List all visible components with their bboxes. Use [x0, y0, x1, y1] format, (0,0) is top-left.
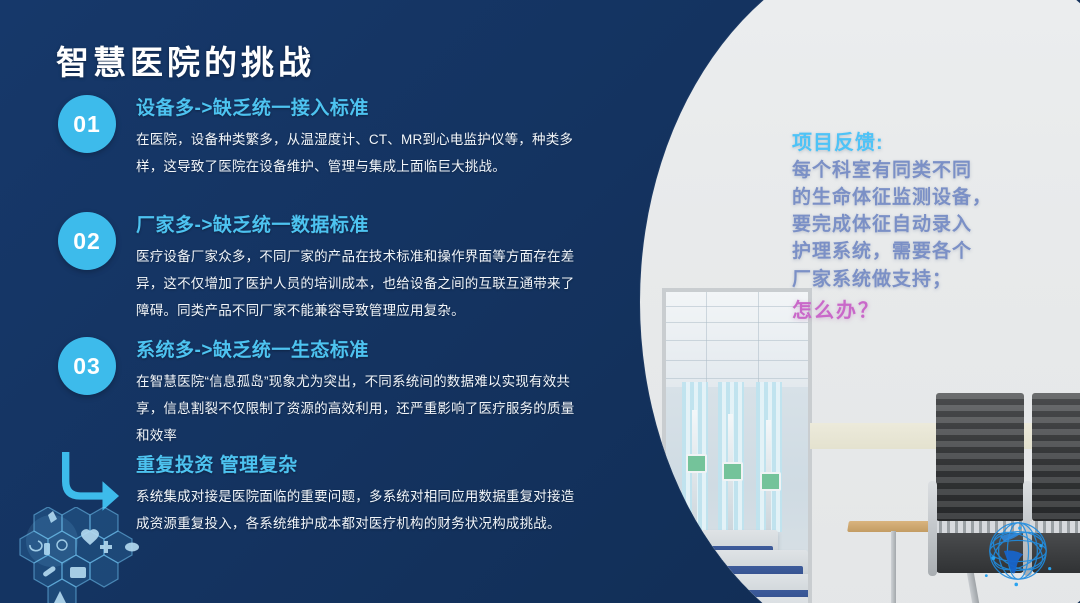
callout-body: 每个科室有同类不同 的生命体征监测设备， 要完成体征自动录入 护理系统，需要各个…	[792, 157, 1062, 293]
network-globe-icon	[974, 507, 1062, 595]
ceiling	[666, 292, 808, 387]
slide-root: 智慧医院的挑战 01 设备多->缺乏统一接入标准 在医院，设备种类繁多，从温湿度…	[0, 0, 1080, 603]
item-text: 在医院，设备种类繁多，从温湿度计、CT、MR到心电监护仪等，种类多样，这导致了医…	[136, 126, 576, 180]
item-text: 在智慧医院“信息孤岛”现象尤为突出，不同系统间的数据难以实现有效共享，信息割裂不…	[136, 368, 576, 449]
item-text: 医疗设备厂家众多，不同厂家的产品在技术标准和操作界面等方面存在差异，这不仅增加了…	[136, 243, 576, 324]
item-heading: 设备多->缺乏统一接入标准	[136, 93, 576, 120]
medical-hex-icons	[4, 507, 154, 603]
project-feedback-callout: 项目反馈: 每个科室有同类不同 的生命体征监测设备， 要完成体征自动录入 护理系…	[792, 126, 1062, 323]
callout-line: 要完成体征自动录入	[792, 211, 1062, 238]
callout-line: 护理系统，需要各个	[792, 238, 1062, 265]
number-badge: 01	[58, 95, 116, 153]
item-heading: 重复投资 管理复杂	[136, 450, 576, 477]
callout-question: 怎么办？	[792, 294, 1062, 323]
item-heading: 厂家多->缺乏统一数据标准	[136, 210, 576, 237]
page-title: 智慧医院的挑战	[56, 36, 315, 84]
number-badge: 03	[58, 337, 116, 395]
elbow-arrow-icon	[60, 452, 126, 514]
callout-line: 的生命体征监测设备，	[792, 184, 1062, 211]
item-text: 系统集成对接是医院面临的重要问题，多系统对相同应用数据重复对接造成资源重复投入，…	[136, 483, 576, 537]
ward-glass-door	[662, 288, 812, 603]
callout-title: 项目反馈:	[792, 126, 1062, 155]
item-heading: 系统多->缺乏统一生态标准	[136, 335, 576, 362]
number-badge: 02	[58, 212, 116, 270]
callout-line: 每个科室有同类不同	[792, 157, 1062, 184]
callout-line: 厂家系统做支持；	[792, 266, 1062, 293]
